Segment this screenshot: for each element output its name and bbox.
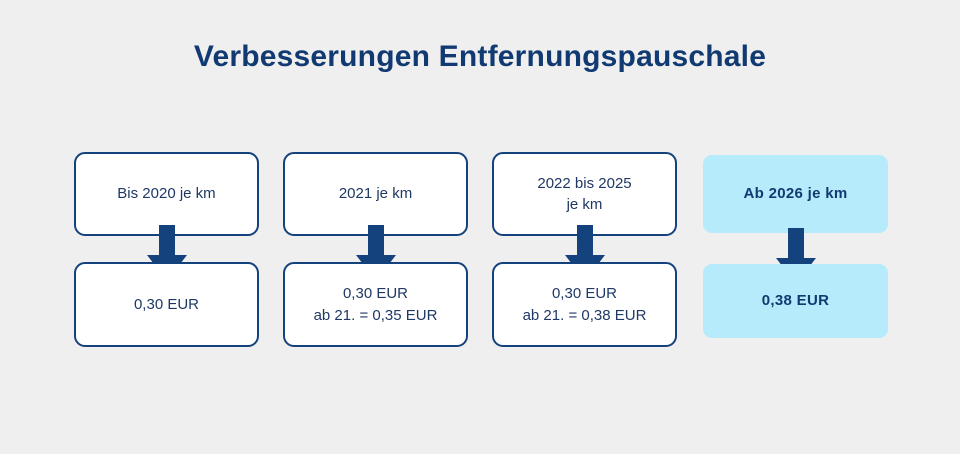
rate-box-2021: 0,30 EUR ab 21. = 0,35 EUR [283,262,468,347]
period-box-2021: 2021 je km [283,152,468,236]
period-label-line: 2022 bis 2025 [537,173,631,194]
rate-detail-line: ab 21. = 0,35 EUR [314,305,438,326]
rate-label-line: 0,38 EUR [762,290,829,311]
rate-label-line: 0,30 EUR [523,283,647,304]
rate-label-line: 0,30 EUR [134,294,199,315]
timeline-columns: Bis 2020 je km 0,30 EUR 2021 je km [74,150,889,350]
column-2021: 2021 je km 0,30 EUR ab 21. = 0,35 EUR [283,150,468,347]
period-box-2022-bis-2025: 2022 bis 2025 je km [492,152,677,236]
rate-box-bis-2020: 0,30 EUR [74,262,259,347]
rate-box-ab-2026: 0,38 EUR [703,264,888,338]
period-box-ab-2026: Ab 2026 je km [703,155,888,233]
page-title: Verbesserungen Entfernungspauschale [0,40,960,74]
period-box-bis-2020: Bis 2020 je km [74,152,259,236]
diagram-canvas: Verbesserungen Entfernungspauschale Bis … [0,0,960,454]
column-ab-2026: Ab 2026 je km 0,38 EUR [703,150,888,347]
period-label-line: 2021 je km [339,183,412,204]
rate-detail-line: ab 21. = 0,38 EUR [523,305,647,326]
period-label-line: Bis 2020 je km [117,183,215,204]
column-2022-bis-2025: 2022 bis 2025 je km 0,30 EUR ab 21. = 0,… [492,150,677,347]
period-label-line: Ab 2026 je km [744,183,848,204]
rate-box-2022-bis-2025: 0,30 EUR ab 21. = 0,38 EUR [492,262,677,347]
rate-label-line: 0,30 EUR [314,283,438,304]
period-label-line-2: je km [537,194,631,215]
column-bis-2020: Bis 2020 je km 0,30 EUR [74,150,259,347]
